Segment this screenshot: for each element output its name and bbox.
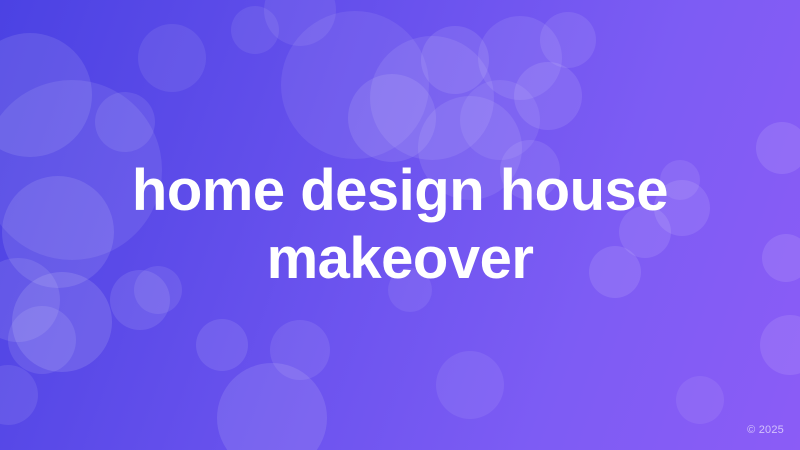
footer: © 2025: [747, 420, 784, 438]
title-block: home design house makeover: [0, 0, 800, 450]
page-title: home design house makeover: [30, 157, 770, 293]
copyright-text: © 2025: [747, 424, 784, 436]
slide-canvas: home design house makeover © 2025: [0, 0, 800, 450]
